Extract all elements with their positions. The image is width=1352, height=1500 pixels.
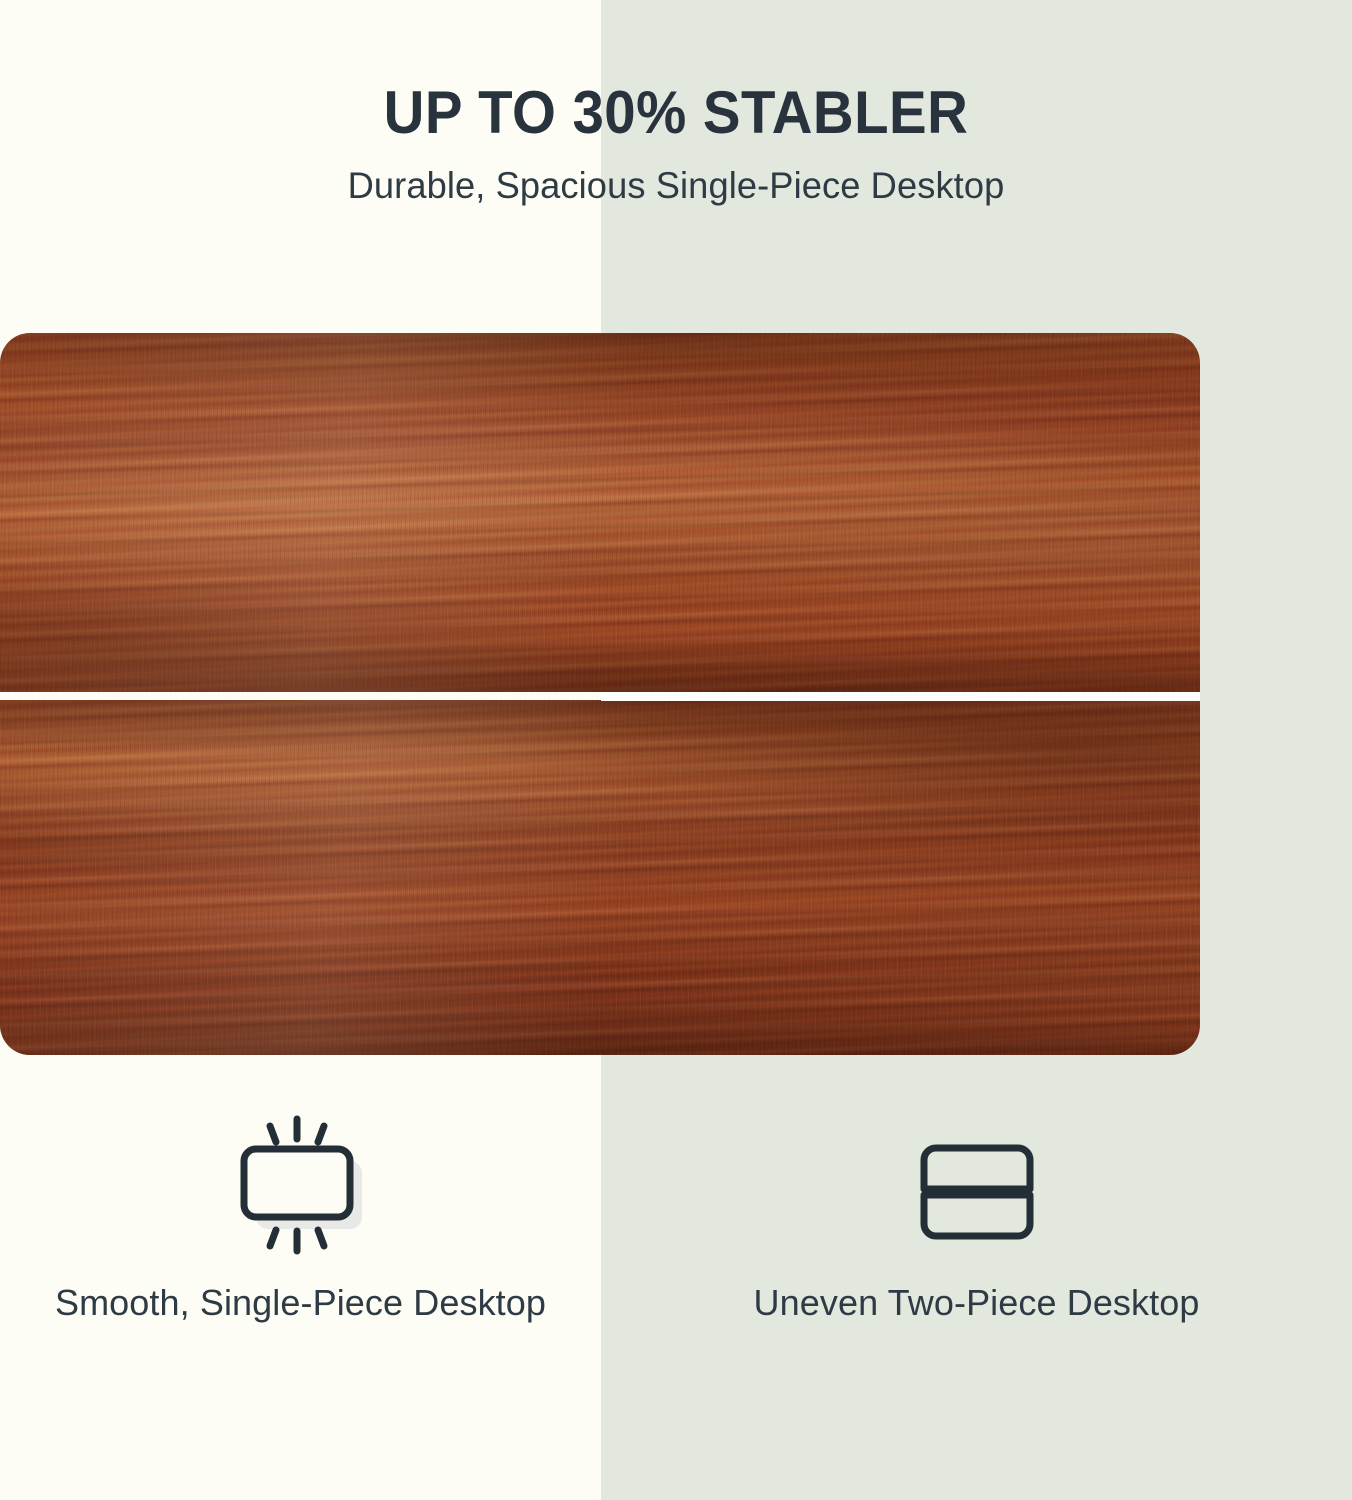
two-piece-seam-line: [601, 692, 1200, 701]
two-piece-desktop-icon: [902, 1113, 1052, 1273]
comparison-column-two-piece: Uneven Two-Piece Desktop: [601, 1105, 1352, 1435]
single-piece-icon-slot: [226, 1105, 376, 1280]
header: UP TO 30% STABLER Durable, Spacious Sing…: [0, 0, 1352, 208]
subtitle: Durable, Spacious Single-Piece Desktop: [14, 143, 1339, 208]
wood-sheen-layer: [0, 700, 1200, 1055]
single-piece-caption: Smooth, Single-Piece Desktop: [55, 1280, 546, 1325]
headline: UP TO 30% STABLER: [41, 0, 1312, 143]
comparison-column-single-piece: Smooth, Single-Piece Desktop: [0, 1105, 601, 1435]
two-piece-icon-slot: [902, 1105, 1052, 1280]
wood-sheen-layer: [0, 333, 1200, 692]
desktop-lower-half: [0, 700, 1200, 1055]
desktop-upper-half: [0, 333, 1200, 692]
comparison-row: Smooth, Single-Piece Desktop Uneven Two-…: [0, 1105, 1352, 1435]
two-piece-caption: Uneven Two-Piece Desktop: [754, 1280, 1200, 1325]
single-piece-desktop-icon: [226, 1113, 376, 1273]
